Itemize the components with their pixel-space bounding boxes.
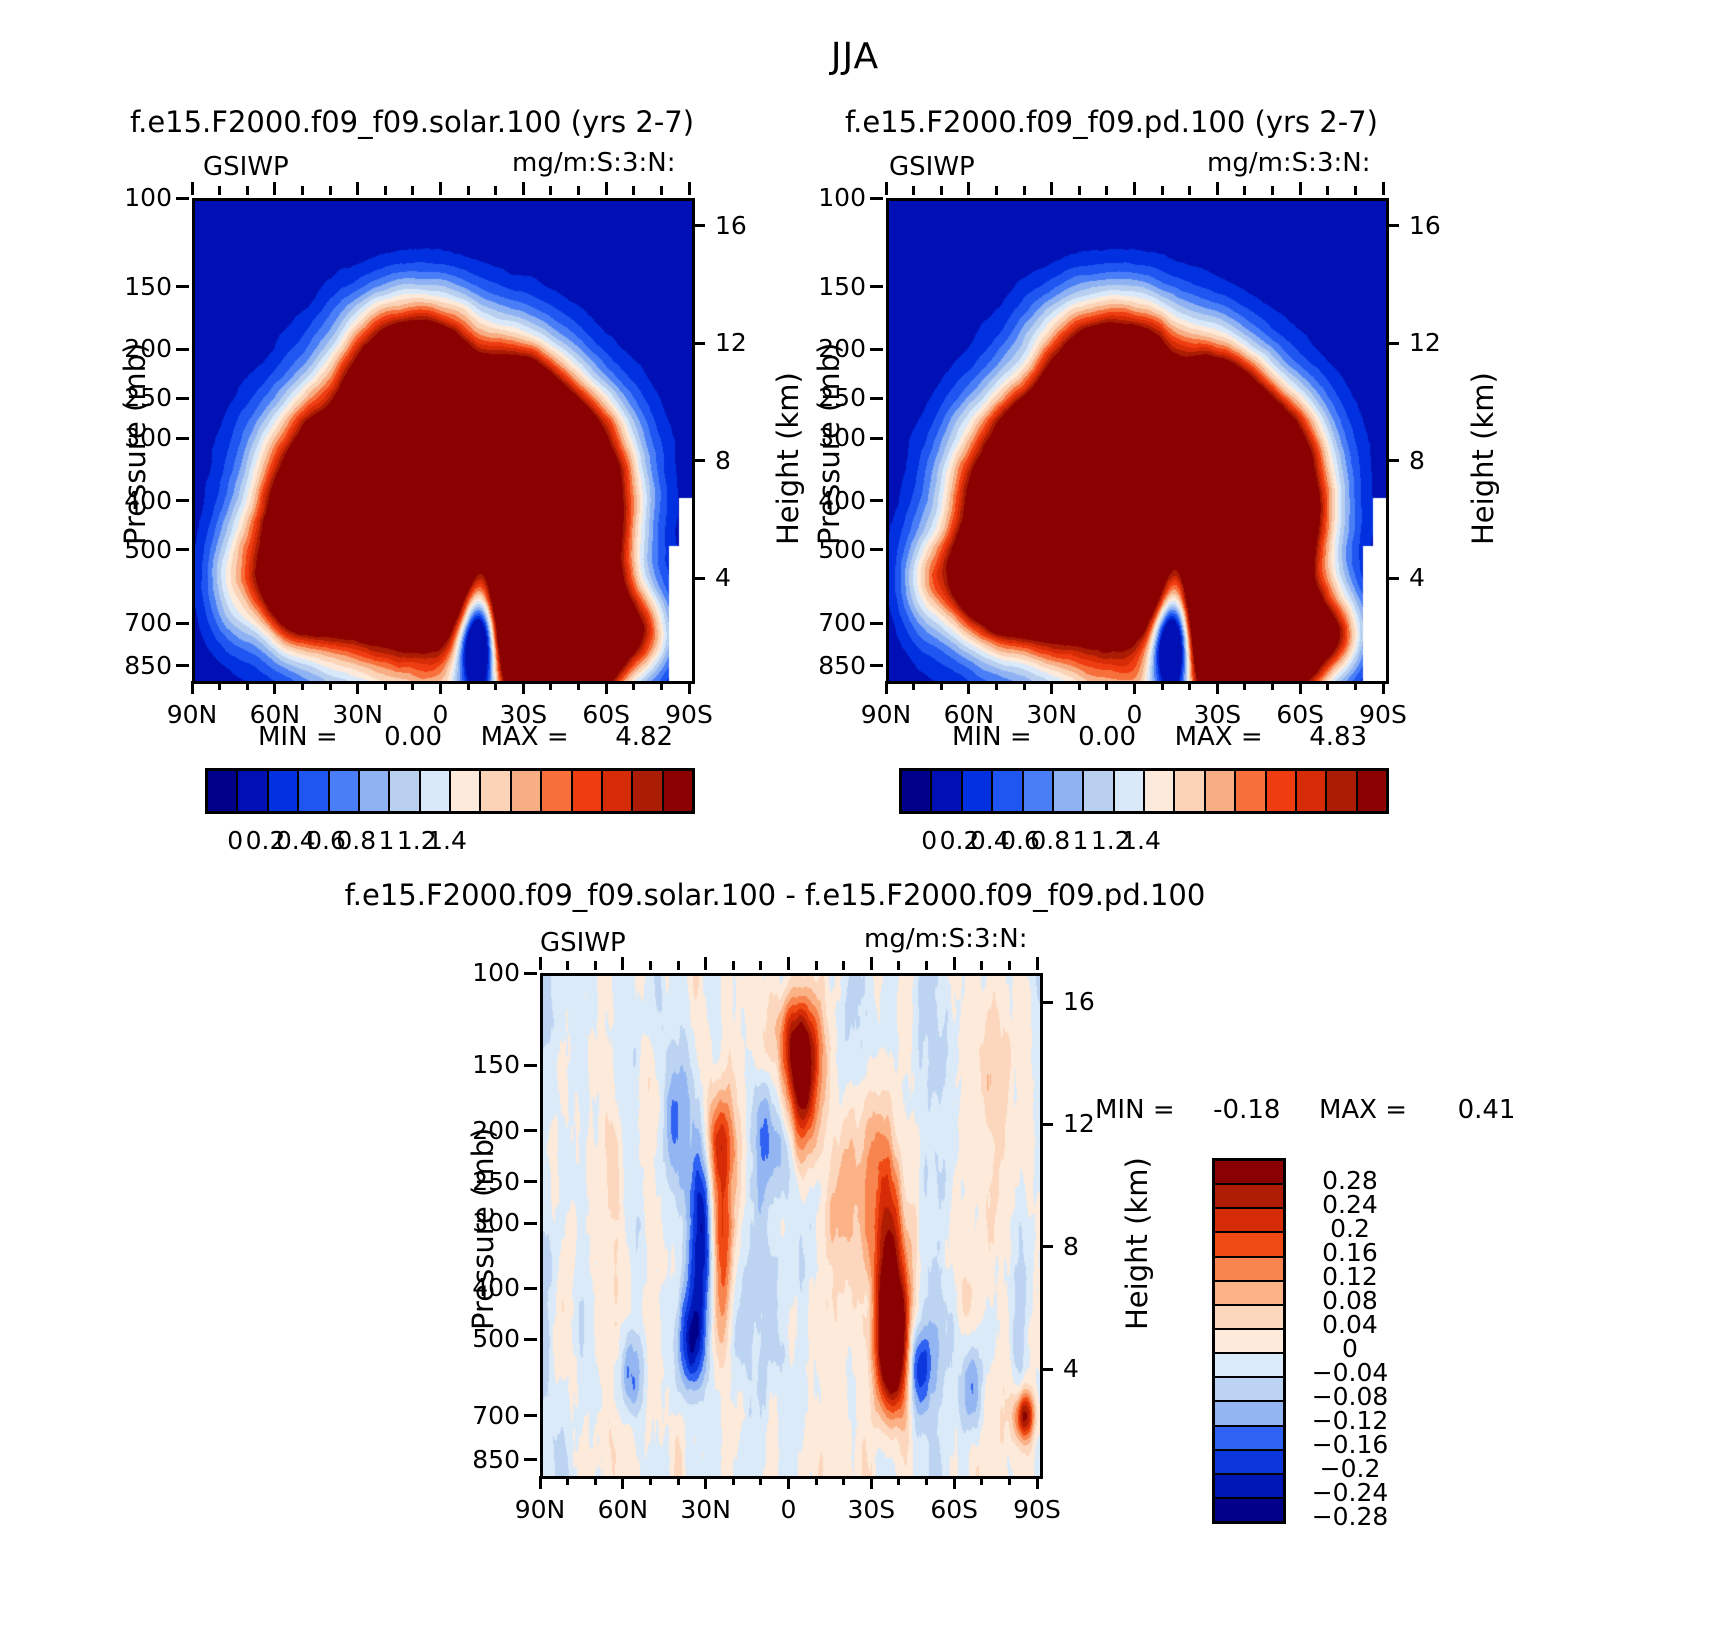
x-tick-top [522,182,525,195]
colorbar-swatch [1115,771,1145,811]
y-tick [176,622,189,625]
x-tick-top-minor [1271,186,1274,195]
colorbar-swatch [1215,1258,1283,1282]
y-tick [176,285,189,288]
x-tick-top-minor [1008,961,1011,970]
x-tick-top-minor [301,186,304,195]
y2-tick-label: 8 [1063,1232,1123,1261]
colorbar-swatch [208,771,238,811]
x-tick-top [787,957,790,970]
plot-area-diff [540,973,1043,1479]
x-tick-top [1382,182,1385,195]
y-tick [524,1338,537,1341]
panel-title-solar-text: f.e15.F2000.f09_f09.solar.100 (yrs 2-7) [130,105,694,139]
colorbar-swatch [1054,771,1084,811]
colorbar-swatch [390,771,420,811]
y-tick [524,1458,537,1461]
minmax-max-value: 0.41 [1458,1095,1516,1125]
colorbar-solar [205,768,695,814]
y-tick [870,285,883,288]
x-tick-top [1050,182,1053,195]
colorbar-swatch [512,771,542,811]
x-tick-top-minor [494,186,497,195]
x-tick-top-minor [677,961,680,970]
colorbar-pd [899,768,1389,814]
x-tick-top-minor [925,961,928,970]
panel-diff-variable-label: GSIWP [540,928,626,958]
y-tick-label: 700 [100,608,172,637]
y-tick-label: 850 [794,651,866,680]
y2-tick-label: 4 [1063,1354,1123,1383]
x-tick-top [439,182,442,195]
colorbar-swatch [1215,1378,1283,1402]
y2-tick-label: 4 [1409,563,1469,592]
colorbar-tick-label: 1.4 [397,826,497,855]
panel-title-solar: f.e15.F2000.f09_f09.solar.100 (yrs 2-7) [130,105,694,139]
minmax-max-label: MAX = [1319,1095,1407,1125]
x-tick-top-minor [549,186,552,195]
y-tick [176,548,189,551]
y-tick-label: 500 [448,1324,520,1353]
colorbar-swatch [1175,771,1205,811]
x-tick-top [885,182,888,195]
x-tick-top-minor [218,186,221,195]
x-tick-top [953,957,956,970]
x-tick-top [967,182,970,195]
colorbar-swatch [963,771,993,811]
colorbar-tick-label: −0.28 [1295,1504,1405,1529]
colorbar-swatch [664,771,692,811]
colorbar-swatch [421,771,451,811]
x-tick-top [1216,182,1219,195]
colorbar-swatch [1206,771,1236,811]
colorbar-swatch [481,771,511,811]
y-tick [870,348,883,351]
x-tick-top [1299,182,1302,195]
x-tick-top-minor [566,961,569,970]
y-tick-label: 250 [100,383,172,412]
y-tick-label: 250 [794,383,866,412]
colorbar-swatch [902,771,932,811]
y-tick-label: 300 [448,1208,520,1237]
y-tick-label: 300 [100,423,172,452]
y-tick [870,397,883,400]
x-tick-top [688,182,691,195]
y-tick-label: 500 [794,535,866,564]
y2-tick-label: 16 [715,211,775,240]
y2-tick-label: 4 [715,563,775,592]
y-tick-label: 400 [100,486,172,515]
x-tick-top-minor [384,186,387,195]
y-tick [524,1064,537,1067]
x-tick-label: 90S [987,1495,1087,1524]
minmax-min-value: 0.00 [384,722,442,752]
y2-tick-label: 8 [1409,446,1469,475]
x-tick-top-minor [980,961,983,970]
y-tick-label: 200 [448,1116,520,1145]
x-tick-top-minor [594,961,597,970]
y-tick-label: 200 [100,334,172,363]
y-tick-label: 850 [100,651,172,680]
y-tick [870,499,883,502]
x-tick-top [605,182,608,195]
y-tick [176,197,189,200]
colorbar-swatch [1327,771,1357,811]
y-tick-label: 300 [794,423,866,452]
panel-diff-minmax: MIN = -0.18 MAX = 0.41 [1095,1095,1515,1125]
colorbar-diff [1212,1158,1286,1524]
colorbar-swatch [1215,1451,1283,1475]
x-tick-top-minor [649,961,652,970]
y-tick [176,397,189,400]
colorbar-swatch [1297,771,1327,811]
y2-tick-label: 12 [1409,328,1469,357]
x-tick-top-minor [1161,186,1164,195]
x-tick-top-minor [577,186,580,195]
x-tick-top-minor [897,961,900,970]
colorbar-swatch [1215,1209,1283,1233]
y2-tick-label: 16 [1409,211,1469,240]
colorbar-swatch [603,771,633,811]
colorbar-swatch [573,771,603,811]
y-tick [524,1287,537,1290]
colorbar-swatch [1084,771,1114,811]
panel-pd-units-label: mg/m:S:3:N: [1207,148,1370,178]
x-tick-top-minor [329,186,332,195]
x-tick-top-minor [815,961,818,970]
season-title: JJA [0,36,1710,77]
colorbar-swatch [1215,1233,1283,1257]
x-tick-top-minor [995,186,998,195]
y-tick-label: 100 [448,958,520,987]
colorbar-swatch [299,771,329,811]
colorbar-swatch [1215,1282,1283,1306]
x-tick-top [1036,957,1039,970]
panel-title-diff-text: f.e15.F2000.f09_f09.solar.100 - f.e15.F2… [345,878,1206,912]
colorbar-swatch [269,771,299,811]
colorbar-swatch [1267,771,1297,811]
panel-title-pd-text: f.e15.F2000.f09_f09.pd.100 (yrs 2-7) [845,105,1378,139]
colorbar-swatch [238,771,268,811]
y-tick-label: 150 [448,1050,520,1079]
x-tick-top [356,182,359,195]
panel-pd-variable-label: GSIWP [889,152,975,182]
minmax-max-label: MAX = [481,722,569,752]
x-tick-top-minor [246,186,249,195]
y-tick-label: 100 [794,183,866,212]
x-tick-top-minor [660,186,663,195]
colorbar-swatch [993,771,1023,811]
x-tick-top-minor [1354,186,1357,195]
y-tick [176,499,189,502]
colorbar-tick-label: 1.4 [1091,826,1191,855]
minmax-min-value: -0.18 [1213,1095,1280,1125]
panel-diff-y2-axis-title: Height (km) [1120,1157,1154,1330]
y-tick [870,664,883,667]
colorbar-swatch [1215,1499,1283,1521]
y-tick [176,348,189,351]
colorbar-swatch [1145,771,1175,811]
panel-pd-y2-axis-title: Height (km) [1466,372,1500,545]
y-tick [176,664,189,667]
y-tick [870,437,883,440]
x-tick-top-minor [411,186,414,195]
x-tick-top-minor [940,186,943,195]
x-tick-top-minor [759,961,762,970]
x-tick-top [704,957,707,970]
x-tick-top-minor [1326,186,1329,195]
y2-tick-label: 8 [715,446,775,475]
colorbar-swatch [1215,1354,1283,1378]
colorbar-swatch [1236,771,1266,811]
plot-area-solar [192,198,695,684]
colorbar-swatch [1215,1330,1283,1354]
colorbar-swatch [633,771,663,811]
colorbar-swatch [1215,1475,1283,1499]
x-tick-top-minor [1078,186,1081,195]
x-tick-top-minor [1023,186,1026,195]
y-tick-label: 700 [448,1401,520,1430]
colorbar-swatch [1215,1402,1283,1426]
minmax-min-label: MIN = [952,722,1032,752]
y-tick [870,197,883,200]
y-tick [176,437,189,440]
y-tick-label: 400 [448,1273,520,1302]
y-tick-label: 500 [100,535,172,564]
panel-solar-variable-label: GSIWP [203,152,289,182]
minmax-max-label: MAX = [1175,722,1263,752]
y-tick-label: 200 [794,334,866,363]
y2-tick-label: 16 [1063,987,1123,1016]
y-tick-label: 250 [448,1167,520,1196]
x-tick-top-minor [632,186,635,195]
colorbar-swatch [451,771,481,811]
x-tick-top [273,182,276,195]
y-tick [524,1414,537,1417]
y-tick-label: 150 [100,272,172,301]
x-tick-top-minor [1105,186,1108,195]
colorbar-swatch [360,771,390,811]
x-tick-top-minor [842,961,845,970]
x-tick-top [539,957,542,970]
x-tick-top [191,182,194,195]
colorbar-swatch [330,771,360,811]
panel-pd-minmax: MIN = 0.00 MAX = 4.83 [952,722,1367,752]
y-tick [870,548,883,551]
panel-title-diff: f.e15.F2000.f09_f09.solar.100 - f.e15.F2… [0,878,1550,912]
x-tick-top-minor [732,961,735,970]
minmax-min-label: MIN = [258,722,338,752]
panel-title-pd: f.e15.F2000.f09_f09.pd.100 (yrs 2-7) [845,105,1378,139]
colorbar-swatch [1215,1185,1283,1209]
minmax-min-value: 0.00 [1078,722,1136,752]
colorbar-swatch [542,771,572,811]
y-tick-label: 400 [794,486,866,515]
y-tick-label: 150 [794,272,866,301]
y-tick [524,1129,537,1132]
y-tick [524,1222,537,1225]
x-tick-top-minor [1188,186,1191,195]
colorbar-swatch [1215,1427,1283,1451]
y2-tick-label: 12 [715,328,775,357]
y-tick [870,622,883,625]
x-tick-top [870,957,873,970]
y-tick [524,972,537,975]
colorbar-swatch [1215,1161,1283,1185]
y-tick [524,1180,537,1183]
y-tick-label: 850 [448,1445,520,1474]
x-tick-top [621,957,624,970]
x-tick-top [1133,182,1136,195]
x-tick-top-minor [467,186,470,195]
plot-area-pd [886,198,1389,684]
panel-diff-units-label: mg/m:S:3:N: [864,924,1027,954]
minmax-min-label: MIN = [1095,1095,1175,1125]
colorbar-swatch [1358,771,1386,811]
x-tick-top-minor [1243,186,1246,195]
x-tick-top-minor [912,186,915,195]
panel-solar-units-label: mg/m:S:3:N: [512,148,675,178]
minmax-max-value: 4.83 [1309,722,1367,752]
colorbar-swatch [932,771,962,811]
colorbar-swatch [1215,1306,1283,1330]
y-tick-label: 100 [100,183,172,212]
panel-solar-minmax: MIN = 0.00 MAX = 4.82 [258,722,673,752]
minmax-max-value: 4.82 [615,722,673,752]
colorbar-swatch [1024,771,1054,811]
y-tick-label: 700 [794,608,866,637]
